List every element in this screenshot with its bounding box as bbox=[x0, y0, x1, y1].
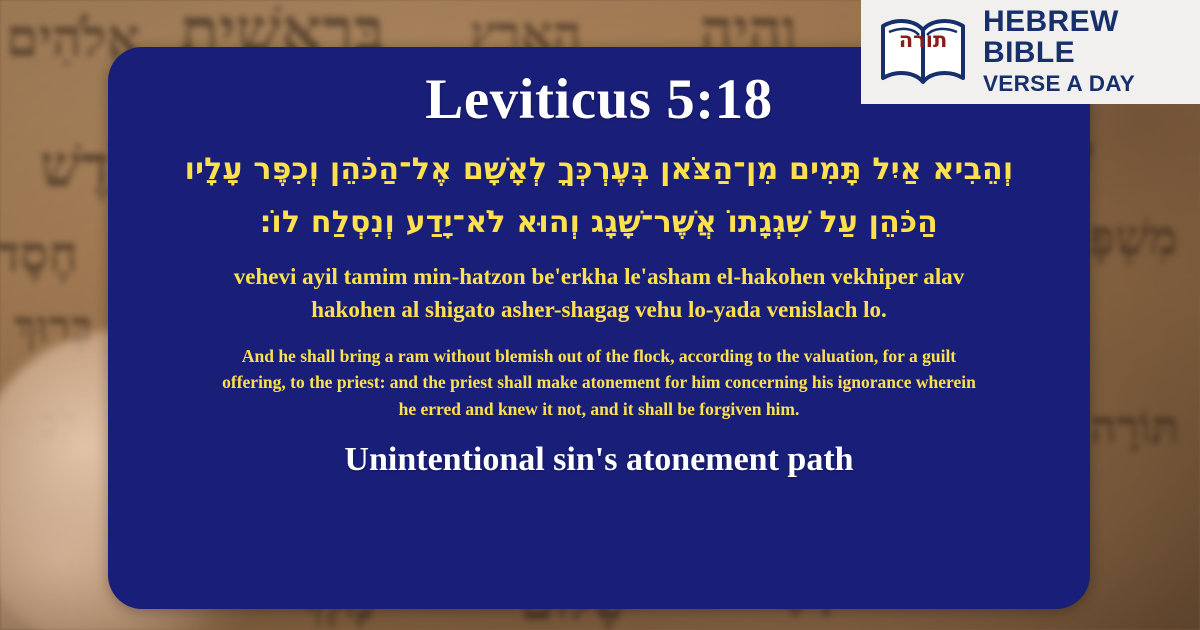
english-translation-text: And he shall bring a ram without blemish… bbox=[219, 343, 979, 423]
logo-line-1: HEBREW bbox=[983, 7, 1135, 38]
transliteration-text: vehevi ayil tamim min-hatzon be'erkha le… bbox=[199, 261, 999, 326]
verse-card: Leviticus 5:18 וְהֵבִיא אַיִל תָּמִים מִ… bbox=[108, 47, 1090, 609]
brand-logo[interactable]: תורה HEBREW BIBLE VERSE A DAY bbox=[861, 0, 1200, 104]
verse-image-canvas: אֱלֹהִים בְּרֵאשִׁית הָאָרֶץ וְהָיָה יִש… bbox=[0, 0, 1200, 630]
verse-theme-tagline: Unintentional sin's atonement path bbox=[129, 440, 1069, 481]
open-book-icon: תורה bbox=[875, 12, 971, 92]
logo-line-3: VERSE A DAY bbox=[983, 70, 1135, 97]
logo-line-2: BIBLE bbox=[983, 38, 1135, 69]
hebrew-verse-text: וְהֵבִיא אַיִל תָּמִים מִן־הַצֹּאן בְּעֶ… bbox=[149, 143, 1049, 250]
logo-hebrew-word: תורה bbox=[875, 28, 971, 52]
logo-wordmark: HEBREW BIBLE VERSE A DAY bbox=[983, 7, 1135, 96]
